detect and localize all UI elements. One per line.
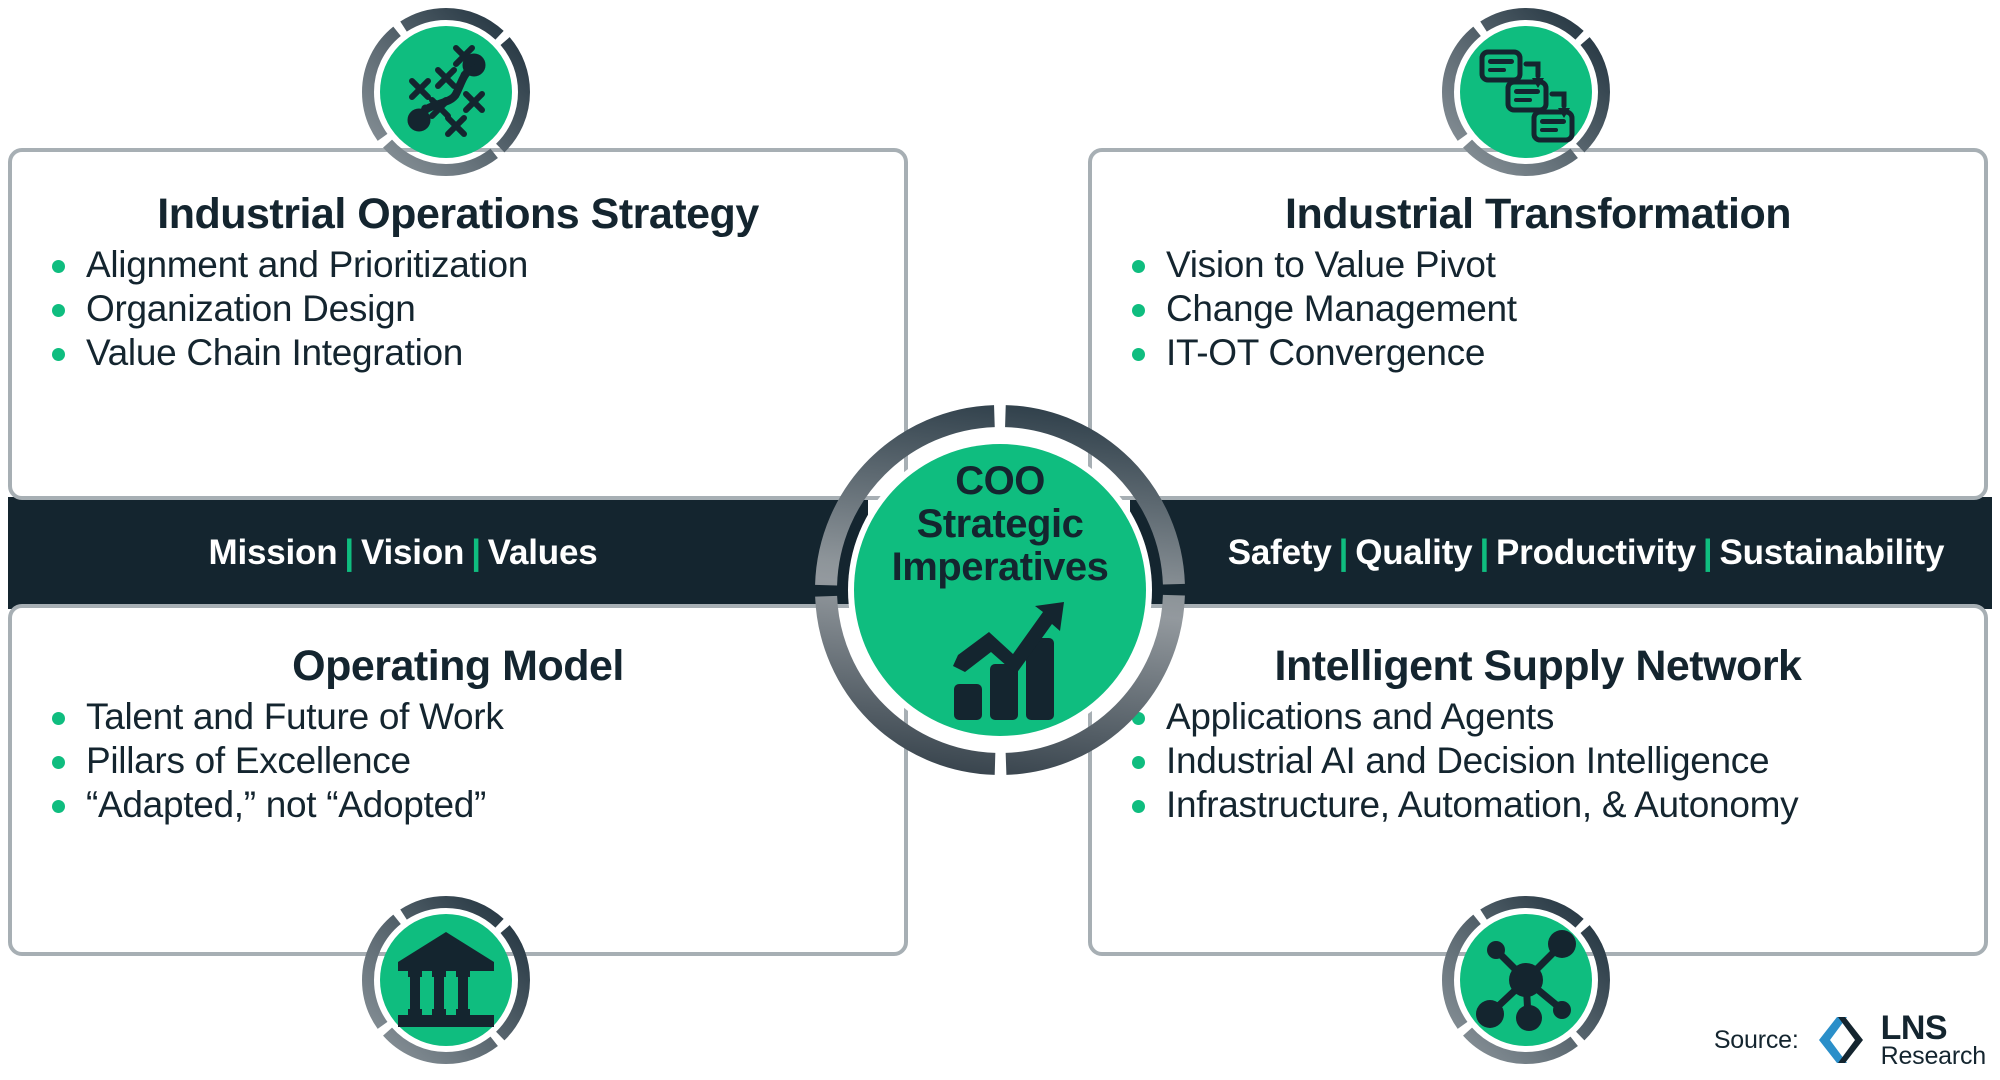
logo-primary-text: LNS	[1881, 1013, 1986, 1044]
bullet-list-industrial-operations-strategy: Alignment and Prioritization Organizatio…	[12, 243, 904, 375]
band-left-item-0: Mission	[209, 533, 338, 572]
list-item: “Adapted,” not “Adopted”	[50, 783, 894, 827]
band-right-item-1: Quality	[1355, 533, 1472, 572]
bullet-dot-icon	[52, 756, 65, 769]
diagram-canvas: Mission|Vision|Values Safety|Quality|Pro…	[0, 0, 2000, 1080]
lns-research-logo[interactable]: LNS Research	[1811, 1013, 1986, 1068]
badge-process-flow-cards-icon	[1442, 8, 1610, 176]
badge-strategy-play-icon	[362, 8, 530, 176]
card-title-operating-model: Operating Model	[12, 608, 904, 695]
bullet-dot-icon	[52, 348, 65, 361]
bullet-dot-icon	[1132, 304, 1145, 317]
bullet-text: Organization Design	[86, 288, 416, 329]
list-item: Applications and Agents	[1130, 695, 1974, 739]
bullet-text: Industrial AI and Decision Intelligence	[1166, 740, 1769, 781]
list-item: Pillars of Excellence	[50, 739, 894, 783]
bullet-list-intelligent-supply-network: Applications and Agents Industrial AI an…	[1092, 695, 1984, 827]
list-item: Organization Design	[50, 287, 894, 331]
bullet-list-operating-model: Talent and Future of Work Pillars of Exc…	[12, 695, 904, 827]
lns-chevron-hex-icon	[1811, 1014, 1873, 1066]
badge-network-hub-icon	[1442, 896, 1610, 1064]
card-industrial-operations-strategy[interactable]: Industrial Operations Strategy Alignment…	[8, 148, 908, 500]
list-item: Vision to Value Pivot	[1130, 243, 1974, 287]
center-hub-coo-strategic-imperatives[interactable]: COO Strategic Imperatives	[808, 398, 1192, 782]
bullet-dot-icon	[1132, 800, 1145, 813]
list-item: IT-OT Convergence	[1130, 331, 1974, 375]
band-right-item-0: Safety	[1228, 533, 1332, 572]
bullet-dot-icon	[52, 304, 65, 317]
list-item: Industrial AI and Decision Intelligence	[1130, 739, 1974, 783]
band-left-sep-0: |	[337, 533, 361, 572]
source-attribution: Source: LNS Research	[1714, 1013, 1986, 1068]
band-left-item-2: Values	[488, 533, 598, 572]
band-left-item-1: Vision	[361, 533, 464, 572]
band-left-sep-1: |	[464, 533, 488, 572]
bullet-text: Change Management	[1166, 288, 1517, 329]
bullet-text: Alignment and Prioritization	[86, 244, 528, 285]
card-industrial-transformation[interactable]: Industrial Transformation Vision to Valu…	[1088, 148, 1988, 500]
bullet-text: Pillars of Excellence	[86, 740, 411, 781]
source-label: Source:	[1714, 1026, 1799, 1055]
logo-secondary-text: Research	[1881, 1045, 1986, 1068]
bullet-dot-icon	[52, 712, 65, 725]
badge-institution-pillars-icon	[362, 896, 530, 1064]
bullet-dot-icon	[1132, 260, 1145, 273]
band-right-item-2: Productivity	[1496, 533, 1696, 572]
list-item: Value Chain Integration	[50, 331, 894, 375]
lns-logo-text: LNS Research	[1881, 1013, 1986, 1068]
bullet-text: Vision to Value Pivot	[1166, 244, 1496, 285]
bullet-text: Infrastructure, Automation, & Autonomy	[1166, 784, 1798, 825]
list-item: Alignment and Prioritization	[50, 243, 894, 287]
value-band-left-text: Mission|Vision|Values	[209, 533, 598, 573]
bullet-dot-icon	[52, 800, 65, 813]
list-item: Infrastructure, Automation, & Autonomy	[1130, 783, 1974, 827]
bullet-text: Talent and Future of Work	[86, 696, 504, 737]
bullet-text: Value Chain Integration	[86, 332, 463, 373]
bullet-dot-icon	[52, 260, 65, 273]
value-band-right: Safety|Quality|Productivity|Sustainabili…	[1130, 497, 1992, 609]
value-band-right-text: Safety|Quality|Productivity|Sustainabili…	[1228, 533, 1945, 573]
band-right-sep-0: |	[1332, 533, 1356, 572]
bullet-list-industrial-transformation: Vision to Value Pivot Change Management …	[1092, 243, 1984, 375]
band-right-item-3: Sustainability	[1719, 533, 1944, 572]
bullet-text: Applications and Agents	[1166, 696, 1554, 737]
list-item: Talent and Future of Work	[50, 695, 894, 739]
value-band-left: Mission|Vision|Values	[8, 497, 868, 609]
bullet-text: “Adapted,” not “Adopted”	[86, 784, 486, 825]
list-item: Change Management	[1130, 287, 1974, 331]
card-title-intelligent-supply-network: Intelligent Supply Network	[1092, 608, 1984, 695]
band-right-sep-1: |	[1472, 533, 1496, 572]
band-right-sep-2: |	[1696, 533, 1720, 572]
bullet-dot-icon	[1132, 348, 1145, 361]
bullet-text: IT-OT Convergence	[1166, 332, 1485, 373]
